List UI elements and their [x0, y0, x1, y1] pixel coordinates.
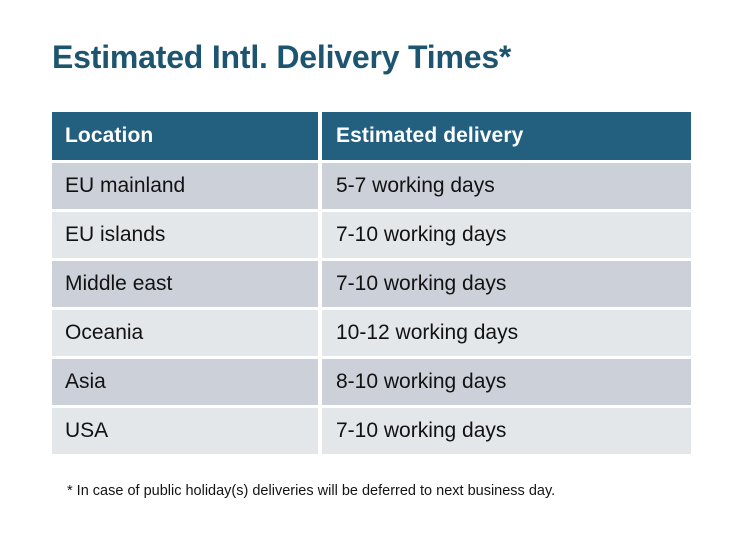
table-cell-delivery: 7-10 working days	[322, 408, 691, 454]
table-row: Middle east 7-10 working days	[52, 261, 691, 307]
table-cell-delivery: 5-7 working days	[322, 163, 691, 209]
cell-text-delivery: 8-10 working days	[336, 370, 506, 394]
table-cell-delivery: 8-10 working days	[322, 359, 691, 405]
cell-text-delivery: 7-10 working days	[336, 419, 506, 443]
table-row: Asia 8-10 working days	[52, 359, 691, 405]
table-row: Oceania 10-12 working days	[52, 310, 691, 356]
table-cell-delivery: 10-12 working days	[322, 310, 691, 356]
table-cell-location: USA	[52, 408, 318, 454]
cell-text-delivery: 5-7 working days	[336, 174, 495, 198]
table-row: EU islands 7-10 working days	[52, 212, 691, 258]
cell-text-location: Asia	[65, 370, 106, 394]
page-title: Estimated Intl. Delivery Times*	[52, 34, 712, 80]
table-cell-location: Oceania	[52, 310, 318, 356]
delivery-times-table: Location Estimated delivery EU mainland …	[52, 112, 691, 454]
table-header-row: Location Estimated delivery	[52, 112, 691, 160]
table-header-label-delivery: Estimated delivery	[336, 124, 523, 148]
cell-text-location: EU mainland	[65, 174, 185, 198]
table-row: EU mainland 5-7 working days	[52, 163, 691, 209]
cell-text-location: EU islands	[65, 223, 165, 247]
cell-text-delivery: 10-12 working days	[336, 321, 518, 345]
table-cell-location: Asia	[52, 359, 318, 405]
table-row: USA 7-10 working days	[52, 408, 691, 454]
delivery-times-page: Estimated Intl. Delivery Times* Location…	[0, 0, 745, 536]
footnote-text: * In case of public holiday(s) deliverie…	[67, 481, 717, 501]
table-cell-location: EU mainland	[52, 163, 318, 209]
table-cell-delivery: 7-10 working days	[322, 261, 691, 307]
cell-text-location: USA	[65, 419, 108, 443]
cell-text-delivery: 7-10 working days	[336, 272, 506, 296]
cell-text-delivery: 7-10 working days	[336, 223, 506, 247]
table-header-cell-location: Location	[52, 112, 318, 160]
cell-text-location: Middle east	[65, 272, 172, 296]
table-header-label-location: Location	[65, 124, 153, 148]
cell-text-location: Oceania	[65, 321, 143, 345]
table-cell-delivery: 7-10 working days	[322, 212, 691, 258]
table-header-cell-delivery: Estimated delivery	[322, 112, 691, 160]
table-cell-location: EU islands	[52, 212, 318, 258]
table-cell-location: Middle east	[52, 261, 318, 307]
